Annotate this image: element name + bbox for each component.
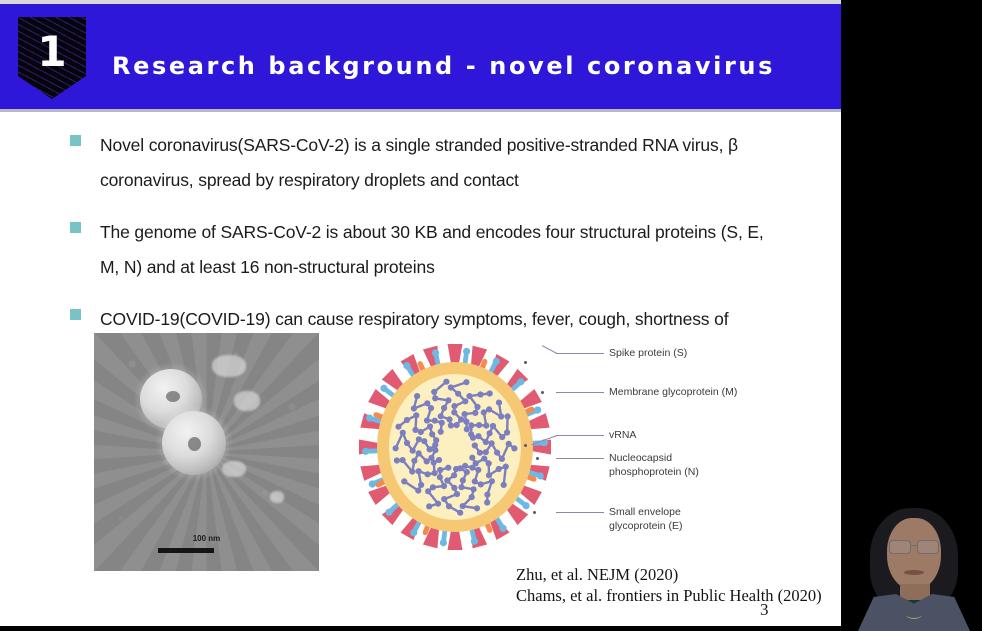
membrane-head <box>439 539 447 547</box>
bullet-item-1-text: Novel coronavirus(SARS-CoV-2) is a singl… <box>100 128 770 198</box>
vrna-strand <box>473 436 479 438</box>
slide-page-number: 3 <box>760 600 769 620</box>
presenter-webcam-feed[interactable] <box>846 494 982 631</box>
glasses-icon <box>888 540 940 552</box>
membrane-head <box>463 347 471 355</box>
bullet-item-2-text: The genome of SARS-CoV-2 is about 30 KB … <box>100 215 770 285</box>
screen-root: 1 Research background - novel coronaviru… <box>0 0 982 631</box>
banner-underline <box>0 109 841 112</box>
cell-debris <box>222 461 246 477</box>
vrna-strand <box>480 452 486 453</box>
presenter-mouth <box>904 570 924 575</box>
vrna-strand <box>441 423 442 432</box>
vrna-strand <box>481 394 490 395</box>
vrna-strand <box>428 473 435 474</box>
vrna-strand <box>416 415 417 430</box>
bullet-square-icon <box>70 135 81 146</box>
bullet-item-1: Novel coronavirus(SARS-CoV-2) is a singl… <box>70 128 770 198</box>
bullet-item-2: The genome of SARS-CoV-2 is about 30 KB … <box>70 215 770 285</box>
leader-line-vrna <box>556 435 604 436</box>
virion-core <box>166 391 180 402</box>
electron-micrograph-image: 100 nm <box>94 333 319 571</box>
presenter-necklace <box>906 610 922 619</box>
scale-bar <box>158 548 214 553</box>
vrna-strand <box>434 463 435 474</box>
citation-line-2: Chams, et al. frontiers in Public Health… <box>516 585 822 606</box>
vrna-strand <box>507 416 508 432</box>
glasses-right-lens <box>917 540 939 554</box>
label-nucleocapsid-phosphoprotein: Nucleocapsid phosphoprotein (N) <box>609 452 729 479</box>
leader-dot-nucleocapsid <box>536 457 539 460</box>
glasses-left-lens <box>889 540 911 554</box>
label-small-envelope-glycoprotein: Small envelope glycoprotein (E) <box>609 506 729 533</box>
presentation-slide: 1 Research background - novel coronaviru… <box>0 0 841 626</box>
label-nucleocapsid-line1: Nucleocapsid <box>609 452 729 466</box>
leader-dot-vrna <box>524 444 527 447</box>
label-envelope-line2: glycoprotein (E) <box>609 520 729 534</box>
bullet-square-icon <box>70 222 81 233</box>
label-membrane-glycoprotein: Membrane glycoprotein (M) <box>609 386 737 400</box>
leader-line-envelope <box>556 512 604 513</box>
glasses-bridge <box>910 545 918 546</box>
cell-debris <box>212 355 246 377</box>
coronavirus-schematic-diagram <box>348 328 563 566</box>
vrna-strand <box>434 392 435 398</box>
leader-dot-spike <box>524 361 527 364</box>
cell-debris <box>270 491 284 503</box>
vrna-strand <box>470 395 481 397</box>
presenter-face <box>887 518 941 590</box>
section-number-badge: 1 <box>18 17 86 99</box>
citation-block: Zhu, et al. NEJM (2020) Chams, et al. fr… <box>516 564 822 606</box>
badge-number-label: 1 <box>18 17 86 87</box>
page-title: Research background - novel coronavirus <box>112 52 775 80</box>
leader-line-nucleocapsid <box>556 458 604 459</box>
label-envelope-line1: Small envelope <box>609 506 729 520</box>
label-nucleocapsid-line2: phosphoprotein (N) <box>609 466 729 480</box>
vrna-strand <box>433 486 444 487</box>
bullet-square-icon <box>70 309 81 320</box>
label-spike-protein: Spike protein (S) <box>609 347 687 361</box>
leader-line-spike <box>556 353 604 354</box>
leader-dot-envelope <box>533 511 536 514</box>
virus-svg <box>348 328 563 566</box>
vrna-strand <box>450 419 451 425</box>
cell-debris <box>234 391 260 411</box>
citation-line-1: Zhu, et al. NEJM (2020) <box>516 564 822 585</box>
scale-bar-label: 100 nm <box>94 534 319 543</box>
leader-dot-membrane <box>541 391 544 394</box>
virion-core <box>188 437 201 451</box>
slide-title-banner: 1 Research background - novel coronaviru… <box>0 4 841 109</box>
vrna-strand <box>465 413 476 414</box>
leader-line-membrane <box>556 392 604 393</box>
label-vrna: vRNA <box>609 429 636 443</box>
